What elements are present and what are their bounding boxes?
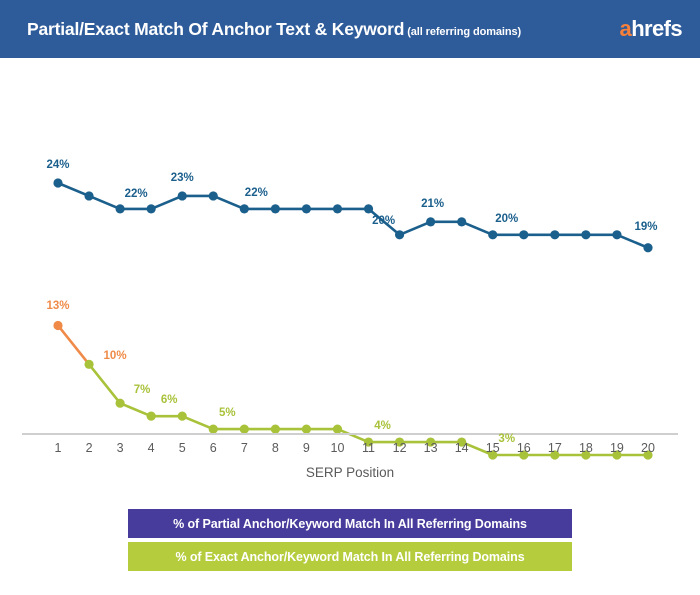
series-line-segment bbox=[58, 325, 89, 364]
data-point-marker[interactable] bbox=[519, 230, 528, 239]
header-bar: Partial/Exact Match Of Anchor Text & Key… bbox=[0, 0, 700, 58]
data-point-marker[interactable] bbox=[426, 217, 435, 226]
x-axis-tick-labels: 1234567891011121314151617181920 bbox=[0, 441, 700, 461]
data-point-label: 21% bbox=[421, 198, 444, 210]
x-axis-tick: 19 bbox=[602, 441, 632, 455]
data-point-marker[interactable] bbox=[333, 204, 342, 213]
data-point-label: 5% bbox=[219, 407, 236, 419]
data-point-label: 6% bbox=[161, 394, 178, 406]
x-axis-tick: 4 bbox=[136, 441, 166, 455]
data-point-marker[interactable] bbox=[271, 204, 280, 213]
data-point-marker[interactable] bbox=[302, 204, 311, 213]
x-axis-tick: 3 bbox=[105, 441, 135, 455]
legend-label-exact: % of Exact Anchor/Keyword Match In All R… bbox=[175, 550, 524, 564]
x-axis-tick: 20 bbox=[633, 441, 663, 455]
data-point-marker[interactable] bbox=[395, 230, 404, 239]
series-line-segment bbox=[151, 196, 182, 209]
data-point-marker[interactable] bbox=[457, 217, 466, 226]
x-axis-tick: 7 bbox=[229, 441, 259, 455]
x-axis-tick: 12 bbox=[385, 441, 415, 455]
data-point-label: 19% bbox=[634, 221, 657, 233]
x-axis-tick: 6 bbox=[198, 441, 228, 455]
x-axis-tick: 5 bbox=[167, 441, 197, 455]
page-title-subtitle: (all referring domains) bbox=[404, 26, 521, 38]
legend-item-partial[interactable]: % of Partial Anchor/Keyword Match In All… bbox=[128, 509, 572, 538]
x-axis-tick: 9 bbox=[291, 441, 321, 455]
chart-plot bbox=[0, 58, 700, 495]
data-point-label: 13% bbox=[46, 300, 69, 312]
data-point-label: 3% bbox=[498, 433, 515, 445]
data-point-marker[interactable] bbox=[581, 230, 590, 239]
data-point-label: 10% bbox=[104, 350, 127, 362]
page-title-main: Partial/Exact Match Of Anchor Text & Key… bbox=[27, 19, 404, 39]
page-title: Partial/Exact Match Of Anchor Text & Key… bbox=[27, 19, 521, 40]
data-point-marker[interactable] bbox=[116, 399, 125, 408]
data-point-marker[interactable] bbox=[643, 243, 652, 252]
data-point-marker[interactable] bbox=[116, 204, 125, 213]
x-axis-tick: 17 bbox=[540, 441, 570, 455]
series-line-segment bbox=[617, 235, 648, 248]
x-axis-tick: 18 bbox=[571, 441, 601, 455]
data-point-marker[interactable] bbox=[488, 230, 497, 239]
chart-page: Partial/Exact Match Of Anchor Text & Key… bbox=[0, 0, 700, 595]
data-point-marker[interactable] bbox=[209, 191, 218, 200]
data-point-marker[interactable] bbox=[147, 204, 156, 213]
x-axis-title: SERP Position bbox=[0, 465, 700, 480]
data-point-label: 23% bbox=[171, 172, 194, 184]
legend-label-partial: % of Partial Anchor/Keyword Match In All… bbox=[173, 517, 527, 531]
series-line-segment bbox=[89, 364, 120, 403]
data-point-label: 4% bbox=[374, 420, 391, 432]
data-point-label: 7% bbox=[134, 384, 151, 396]
x-axis-tick: 10 bbox=[322, 441, 352, 455]
logo-letter-a: a bbox=[620, 16, 632, 41]
x-axis-tick: 2 bbox=[74, 441, 104, 455]
series-line-segment bbox=[58, 183, 89, 196]
series-line-segment bbox=[182, 416, 213, 429]
data-point-label: 20% bbox=[495, 213, 518, 225]
x-axis-tick: 1 bbox=[43, 441, 73, 455]
data-point-marker[interactable] bbox=[147, 412, 156, 421]
x-axis-tick: 14 bbox=[447, 441, 477, 455]
data-point-marker[interactable] bbox=[364, 204, 373, 213]
data-point-marker[interactable] bbox=[53, 321, 62, 330]
series-line-segment bbox=[462, 222, 493, 235]
ahrefs-logo: ahrefs bbox=[620, 16, 682, 42]
data-point-label: 24% bbox=[46, 159, 69, 171]
data-point-marker[interactable] bbox=[612, 230, 621, 239]
series-line-segment bbox=[120, 403, 151, 416]
data-point-marker[interactable] bbox=[550, 230, 559, 239]
data-point-marker[interactable] bbox=[178, 191, 187, 200]
x-axis-tick: 13 bbox=[416, 441, 446, 455]
x-axis-tick: 8 bbox=[260, 441, 290, 455]
chart-area: 1234567891011121314151617181920 SERP Pos… bbox=[0, 58, 700, 495]
legend-item-exact[interactable]: % of Exact Anchor/Keyword Match In All R… bbox=[128, 542, 572, 571]
data-point-label: 22% bbox=[125, 188, 148, 200]
series-line-segment bbox=[213, 196, 244, 209]
data-point-marker[interactable] bbox=[240, 204, 249, 213]
data-point-marker[interactable] bbox=[53, 178, 62, 187]
series-line-segment bbox=[400, 222, 431, 235]
data-point-marker[interactable] bbox=[84, 360, 93, 369]
x-axis-line bbox=[22, 433, 678, 435]
series-line-segment bbox=[89, 196, 120, 209]
logo-letters-hrefs: hrefs bbox=[631, 16, 682, 41]
x-axis-tick: 11 bbox=[354, 441, 384, 455]
data-point-marker[interactable] bbox=[178, 412, 187, 421]
data-point-label: 22% bbox=[245, 187, 268, 199]
data-point-marker[interactable] bbox=[84, 191, 93, 200]
chart-legend: % of Partial Anchor/Keyword Match In All… bbox=[128, 509, 572, 571]
data-point-label: 20% bbox=[372, 215, 395, 227]
